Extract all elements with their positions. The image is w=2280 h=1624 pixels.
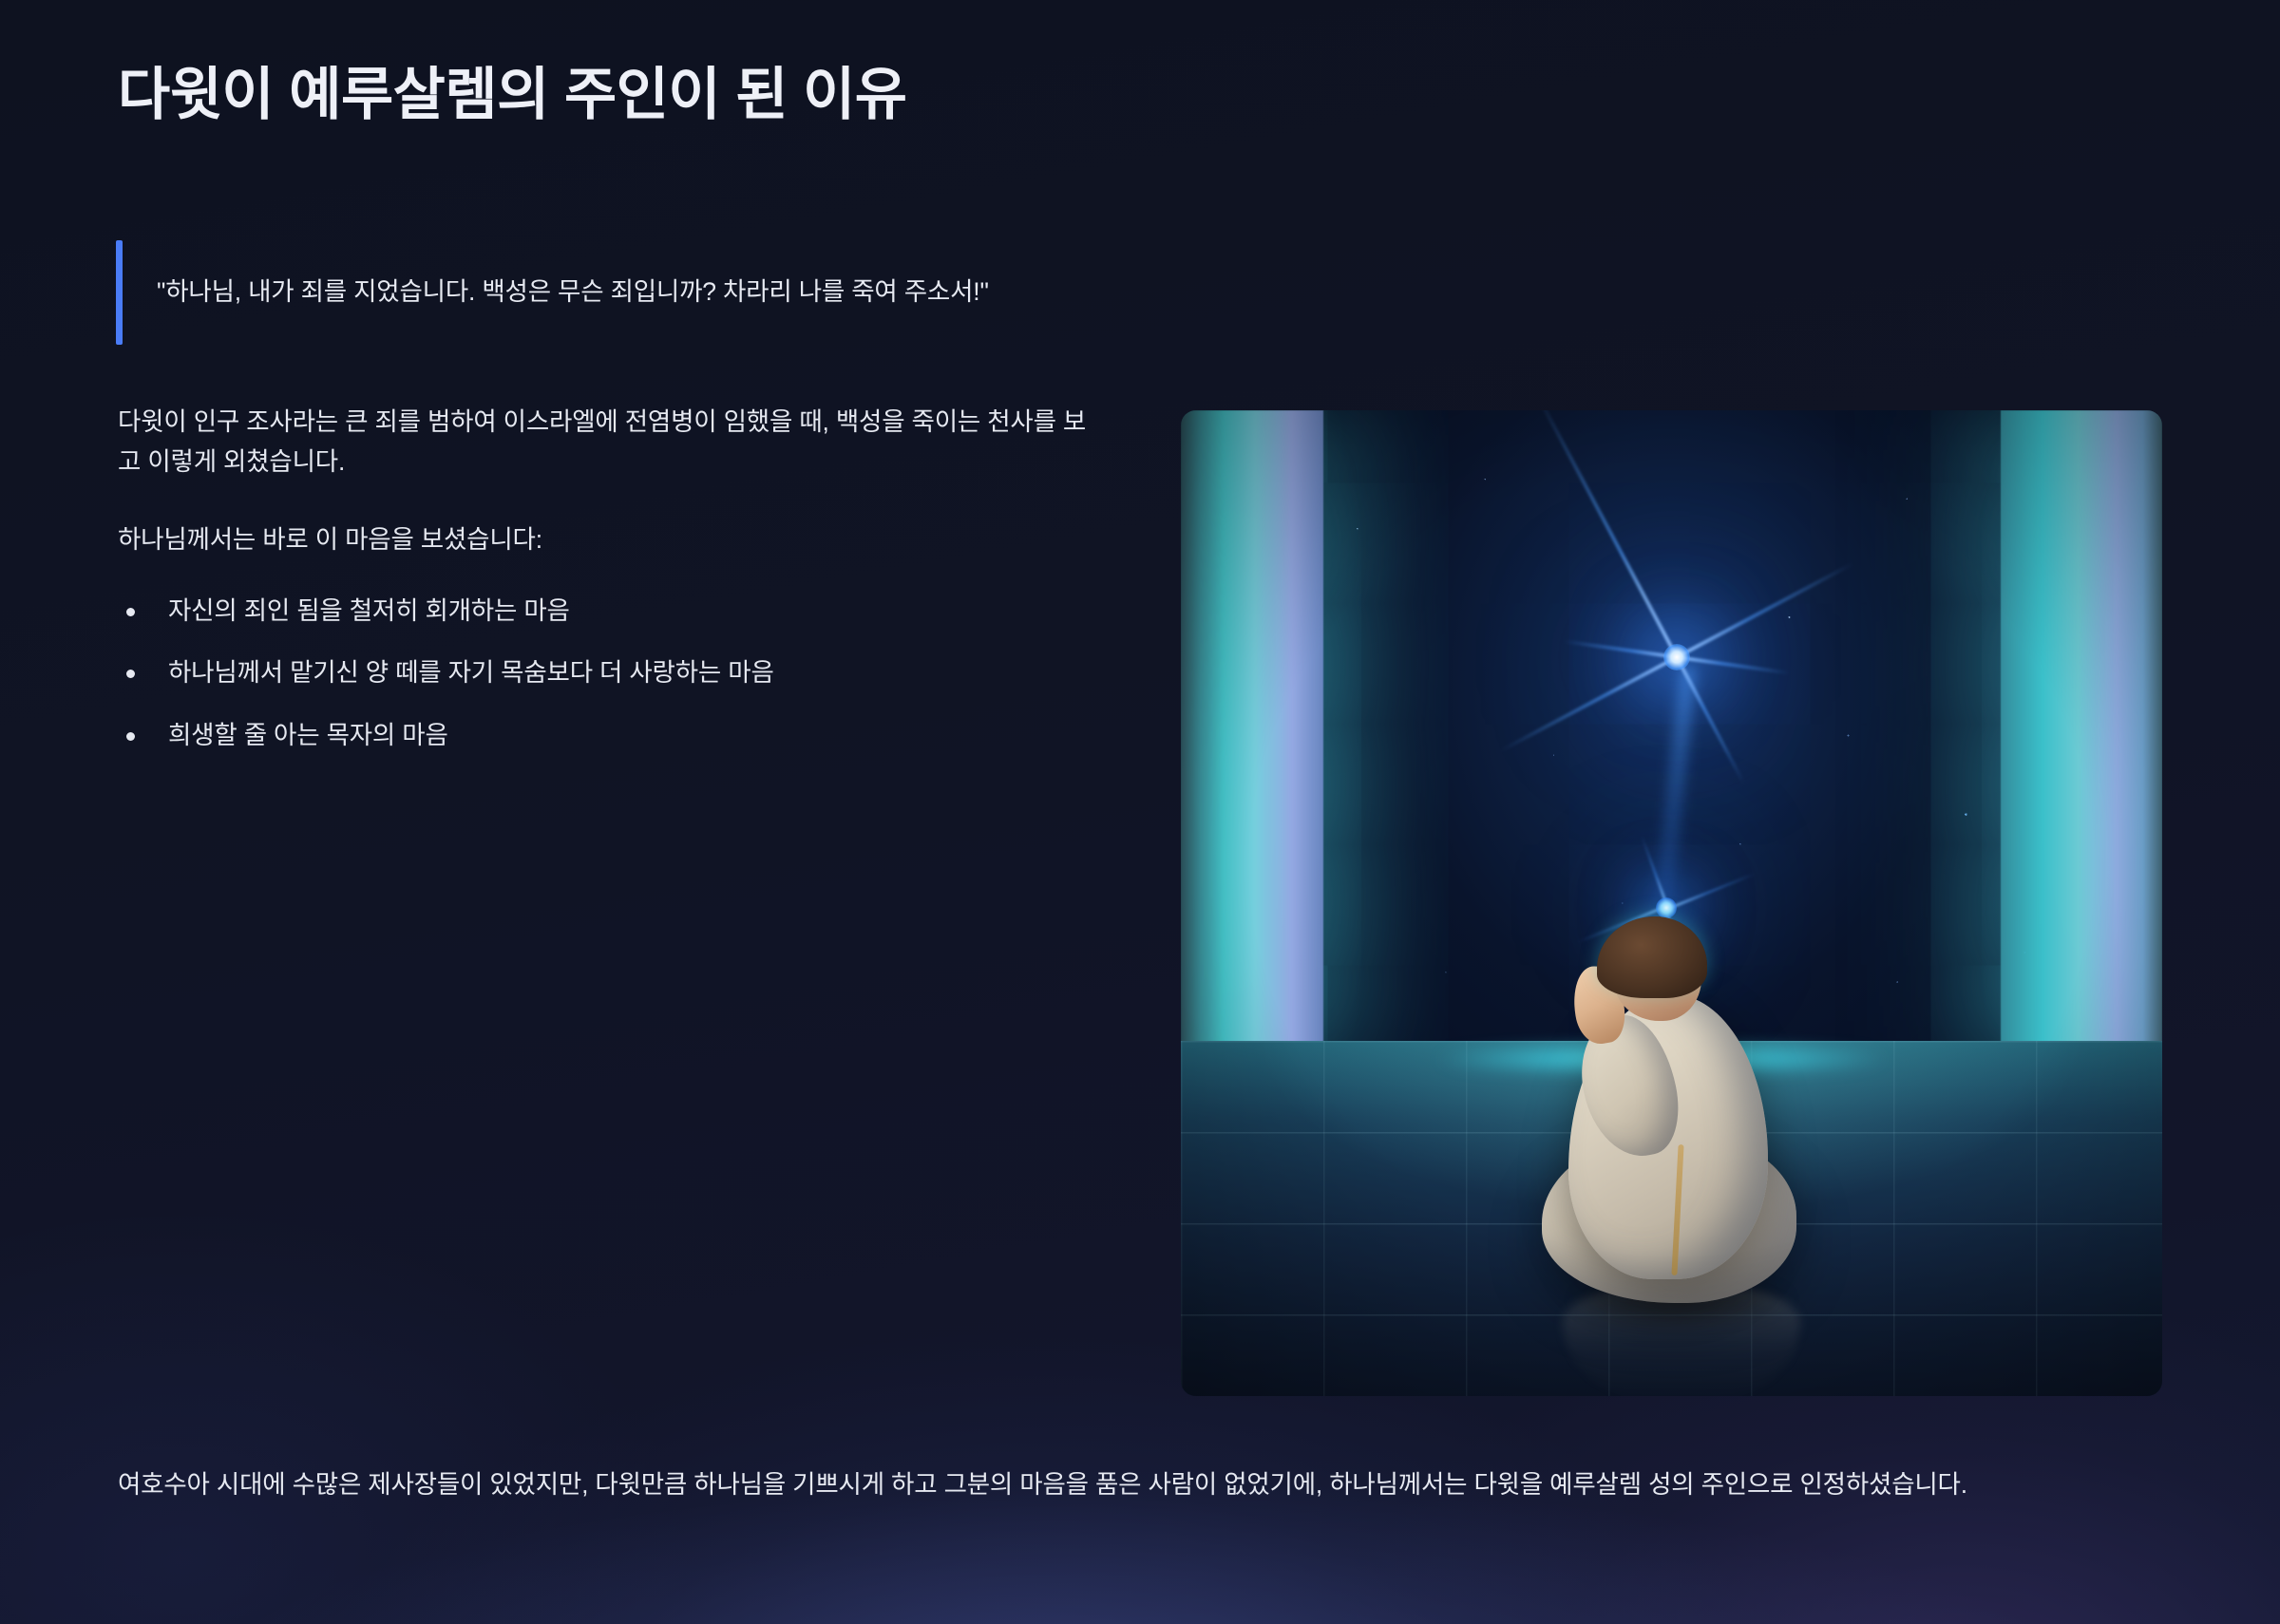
list-item: 하나님께서 맡기신 양 떼를 자기 목숨보다 더 사랑하는 마음 (118, 654, 1113, 692)
body-paragraph-2: 하나님께서는 바로 이 마음을 보셨습니다: (118, 520, 1106, 560)
slide-canvas: 다윗이 예루살렘의 주인이 된 이유 "하나님, 내가 죄를 지었습니다. 백성… (0, 0, 2280, 1624)
kneeling-praying-figure (1534, 913, 1848, 1321)
body-paragraph-1: 다윗이 인구 조사라는 큰 죄를 범하여 이스라엘에 전염병이 임했을 때, 백… (118, 403, 1106, 482)
glowing-pillar-right (2001, 410, 2162, 1061)
bullet-dot-icon (126, 732, 135, 741)
footer-paragraph: 여호수아 시대에 수많은 제사장들이 있었지만, 다윗만큼 하나님을 기쁘시게 … (118, 1465, 2168, 1505)
heart-qualities-list: 자신의 죄인 됨을 철저히 회개하는 마음 하나님께서 맡기신 양 떼를 자기 … (118, 593, 1113, 755)
list-item-label: 하나님께서 맡기신 양 떼를 자기 목숨보다 더 사랑하는 마음 (168, 658, 774, 687)
quote-block: "하나님, 내가 죄를 지었습니다. 백성은 무슨 죄입니까? 차라리 나를 죽… (116, 240, 1170, 345)
glowing-pillar-left (1181, 410, 1323, 1061)
list-item-label: 희생할 줄 아는 목자의 마음 (168, 721, 448, 749)
figure-hair (1597, 916, 1707, 998)
list-item: 자신의 죄인 됨을 철저히 회개하는 마음 (118, 593, 1113, 631)
list-item-label: 자신의 죄인 됨을 철저히 회개하는 마음 (168, 596, 570, 625)
bullet-dot-icon (126, 670, 135, 678)
list-item: 희생할 줄 아는 목자의 마음 (118, 717, 1113, 755)
content-column: 다윗이 인구 조사라는 큰 죄를 범하여 이스라엘에 전염병이 임했을 때, 백… (118, 403, 1113, 780)
page-title: 다윗이 예루살렘의 주인이 된 이유 (118, 59, 906, 130)
quote-text: "하나님, 내가 죄를 지었습니다. 백성은 무슨 죄입니까? 차라리 나를 죽… (157, 274, 989, 312)
quote-accent-bar (116, 240, 123, 345)
bullet-dot-icon (126, 608, 135, 616)
illustration-praying-figure (1181, 410, 2162, 1396)
